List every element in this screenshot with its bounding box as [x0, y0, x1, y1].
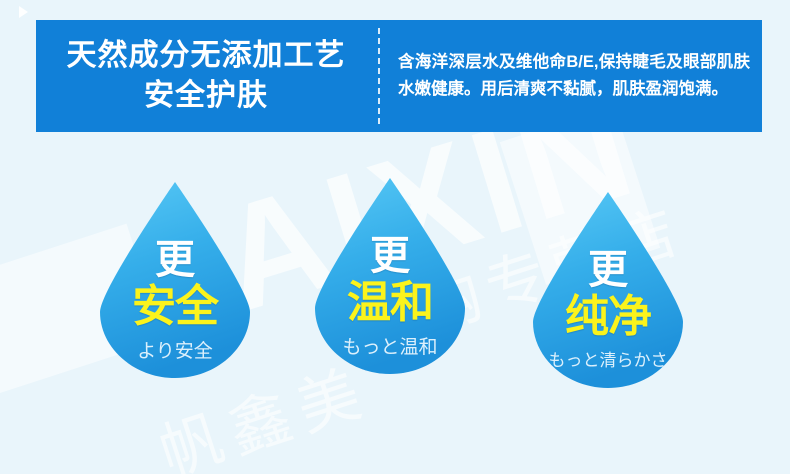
product-detail-banner-page: AIXIN 购专营店 帆鑫美 天然成分无添加工艺 安全护肤 含海洋深层水及维他命… — [0, 0, 790, 474]
drop-item: 更 温和 もっと温和 — [315, 178, 465, 374]
water-drop-icon — [100, 182, 250, 378]
water-drop-icon — [533, 192, 683, 388]
drop-item: 更 安全 より安全 — [100, 182, 250, 378]
drop-item: 更 纯净 もっと清らかさ — [533, 192, 683, 388]
drop-group: 更 安全 より安全 更 温和 もっと温和 — [0, 0, 790, 474]
water-drop-icon — [315, 178, 465, 374]
